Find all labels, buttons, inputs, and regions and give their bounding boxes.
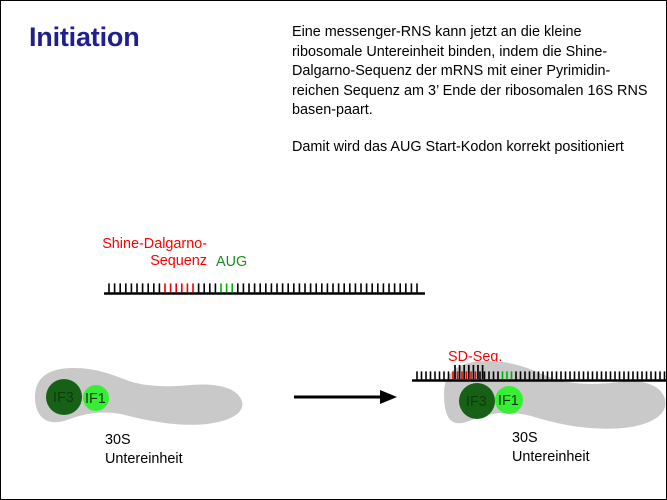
diagram-artwork: IF3 IF1 IF3 IF1 bbox=[1, 1, 667, 500]
if3-label-left: IF3 bbox=[53, 390, 74, 406]
ribosome-30s-left: IF3 IF1 bbox=[35, 368, 242, 425]
ribosome-30s-right: IF3 IF1 bbox=[412, 361, 667, 429]
base-pairing-ticks bbox=[455, 365, 483, 379]
mrna-ticks-top bbox=[109, 283, 417, 292]
if3-label-right: IF3 bbox=[466, 394, 487, 410]
slide-canvas: Initiation Eine messenger-RNS kann jetzt… bbox=[0, 0, 667, 500]
transition-arrow bbox=[294, 390, 397, 404]
if1-label-right: IF1 bbox=[498, 393, 519, 409]
if1-label-left: IF1 bbox=[85, 391, 106, 407]
arrow-head bbox=[380, 390, 397, 404]
mrna-strand-free bbox=[104, 283, 425, 293]
